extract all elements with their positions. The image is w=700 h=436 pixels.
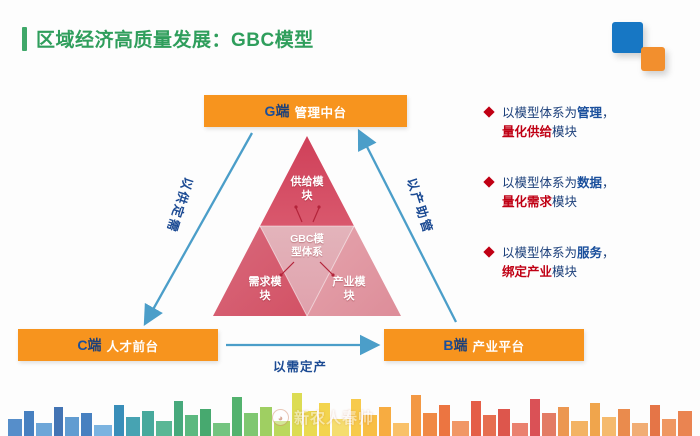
edge-label-industry-aids-mgmt: 以产助管 xyxy=(403,175,439,236)
bullet-text-2: 以模型体系为数据，量化需求模块 xyxy=(502,174,615,213)
diamond-bullet-icon xyxy=(483,246,494,257)
bullet-item-3: 以模型体系为服务，绑定产业模块 xyxy=(485,244,690,283)
node-box-b-industry-platform[interactable]: B端 产业平台 xyxy=(384,329,584,361)
node-c-code: C端 xyxy=(77,335,101,355)
slide-canvas: 区域经济高质量发展：GBC模型 xyxy=(0,0,700,436)
bullet-item-1: 以模型体系为管理，量化供给模块 xyxy=(485,104,690,143)
watermark-text: 新农人春帅 xyxy=(294,407,374,428)
bullet-text-1: 以模型体系为管理，量化供给模块 xyxy=(502,104,615,143)
title-text: 区域经济高质量发展：GBC模型 xyxy=(36,25,314,52)
gbc-pyramid: 供给模 块 GBC模 型体系 需求模 块 产业模 块 xyxy=(212,128,402,318)
title-accent-bar xyxy=(22,27,27,51)
pyramid-label-right: 产业模 块 xyxy=(320,276,378,304)
node-g-code: G端 xyxy=(265,101,290,121)
diamond-bullet-icon xyxy=(483,106,494,117)
diamond-bullet-icon xyxy=(483,176,494,187)
bullet-text-3: 以模型体系为服务，绑定产业模块 xyxy=(502,244,615,283)
decorative-blue-square xyxy=(612,22,643,53)
pyramid-label-left: 需求模 块 xyxy=(236,276,294,304)
node-box-g-management-center[interactable]: G端 管理中台 xyxy=(204,95,407,127)
node-g-label: 管理中台 xyxy=(294,102,346,121)
node-b-code: B端 xyxy=(443,335,467,355)
pyramid-label-top: 供给模 块 xyxy=(275,176,339,204)
node-c-label: 人才前台 xyxy=(107,336,159,355)
weibo-watermark: ◕ 新农人春帅 xyxy=(272,407,374,428)
node-box-c-talent-frontend[interactable]: C端 人才前台 xyxy=(18,329,218,361)
bullet-list: 以模型体系为管理，量化供给模块 以模型体系为数据，量化需求模块 以模型体系为服务… xyxy=(485,104,690,313)
edge-label-demand-defines-output: 以需定产 xyxy=(273,356,327,375)
page-title: 区域经济高质量发展：GBC模型 xyxy=(22,25,314,52)
edge-label-supply-defines-demand: 以供定需 xyxy=(163,175,199,236)
decorative-orange-square xyxy=(641,47,665,71)
weibo-icon: ◕ xyxy=(272,409,289,426)
pyramid-label-center: GBC模 型体系 xyxy=(271,233,343,259)
bullet-item-2: 以模型体系为数据，量化需求模块 xyxy=(485,174,690,213)
node-b-label: 产业平台 xyxy=(473,336,525,355)
